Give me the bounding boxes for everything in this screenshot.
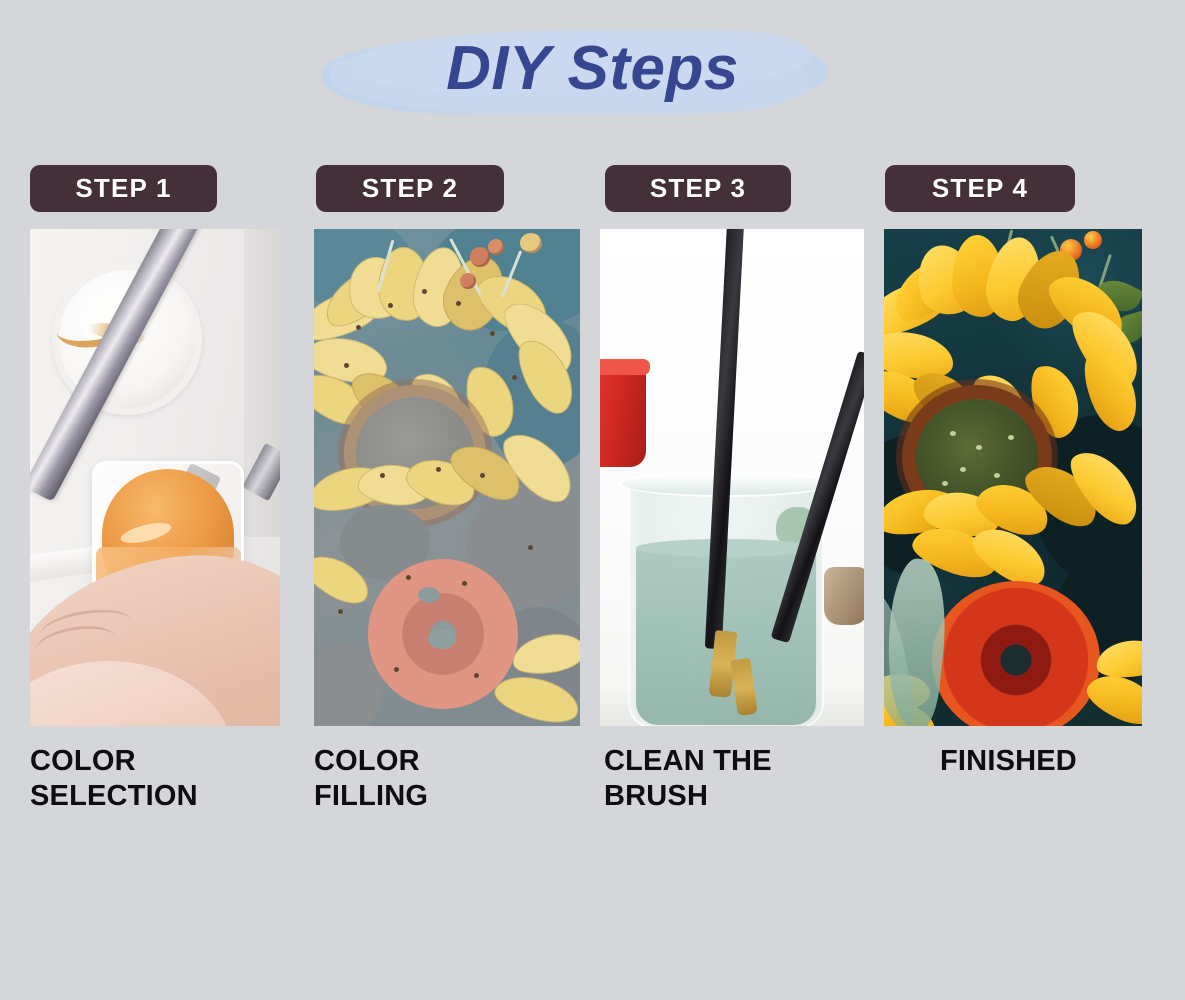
photo3-red-pot-rim (600, 359, 650, 375)
photo4-red-flower (932, 581, 1100, 726)
photo3-cap (824, 567, 864, 625)
photo4-center-speck (1008, 435, 1014, 440)
photo4-center-speck (942, 481, 948, 486)
photo2-dot (456, 301, 461, 306)
step-caption-1: COLOR SELECTION (30, 744, 294, 815)
step-badge-1: STEP 1 (30, 165, 217, 212)
photo2-salmon-center-a (418, 587, 440, 603)
photo2-dot (512, 375, 517, 380)
photo2-dot (338, 609, 343, 614)
photo2-berry-2 (488, 239, 504, 255)
step-caption-1-line1: COLOR (30, 744, 294, 779)
photo3-red-paint-pot (600, 363, 646, 467)
step-column-3: STEP 3 CLEAN THE BRUSH (600, 165, 866, 815)
step-caption-3-line1: CLEAN THE (604, 744, 866, 779)
photo2-dot (436, 467, 441, 472)
title-zone: DIY Steps (0, 0, 1185, 150)
step-caption-1-line2: SELECTION (30, 779, 294, 814)
photo2-berry-4 (520, 233, 542, 253)
step-column-4: STEP 4 (884, 165, 1144, 779)
photo2-dot (394, 667, 399, 672)
photo2-dot (406, 575, 411, 580)
photo2-dot (474, 673, 479, 678)
photo2-dot (422, 289, 427, 294)
photo2-dot (528, 545, 533, 550)
step-caption-4: FINISHED (940, 744, 1144, 779)
photo2-berry-3 (460, 273, 476, 289)
step-caption-3: CLEAN THE BRUSH (604, 744, 866, 815)
photo4-center-speck (950, 431, 956, 436)
step-column-2: STEP 2 (314, 165, 582, 815)
step-photo-1 (30, 229, 280, 726)
photo4-center-speck (960, 467, 966, 472)
photo2-dot (380, 473, 385, 478)
photo2-berry-1 (470, 247, 490, 267)
step-caption-2: COLOR FILLING (314, 744, 582, 815)
step-badge-2: STEP 2 (316, 165, 504, 212)
step-photo-2 (314, 229, 580, 726)
photo2-dot (490, 331, 495, 336)
step-column-1: STEP 1 COLOR SELECTION (30, 165, 294, 815)
step-caption-2-line2: FILLING (314, 779, 582, 814)
step-caption-4-line1: FINISHED (940, 744, 1144, 779)
photo4-berry-2 (1084, 231, 1102, 249)
page-title: DIY Steps (0, 36, 1185, 101)
steps-row: STEP 1 COLOR SELECTION (0, 165, 1185, 825)
photo2-dot (356, 325, 361, 330)
photo4-center-speck (994, 473, 1000, 478)
photo2-dot (480, 473, 485, 478)
step-badge-4: STEP 4 (885, 165, 1075, 212)
photo2-dot (462, 581, 467, 586)
photo2-dot (344, 363, 349, 368)
photo4-center-speck (976, 445, 982, 450)
photo2-dot (388, 303, 393, 308)
step-photo-3 (600, 229, 864, 726)
step-caption-3-line2: BRUSH (604, 779, 866, 814)
step-photo-4 (884, 229, 1142, 726)
step-caption-2-line1: COLOR (314, 744, 582, 779)
step-badge-3: STEP 3 (605, 165, 791, 212)
photo2-salmon-center-b (428, 629, 456, 649)
